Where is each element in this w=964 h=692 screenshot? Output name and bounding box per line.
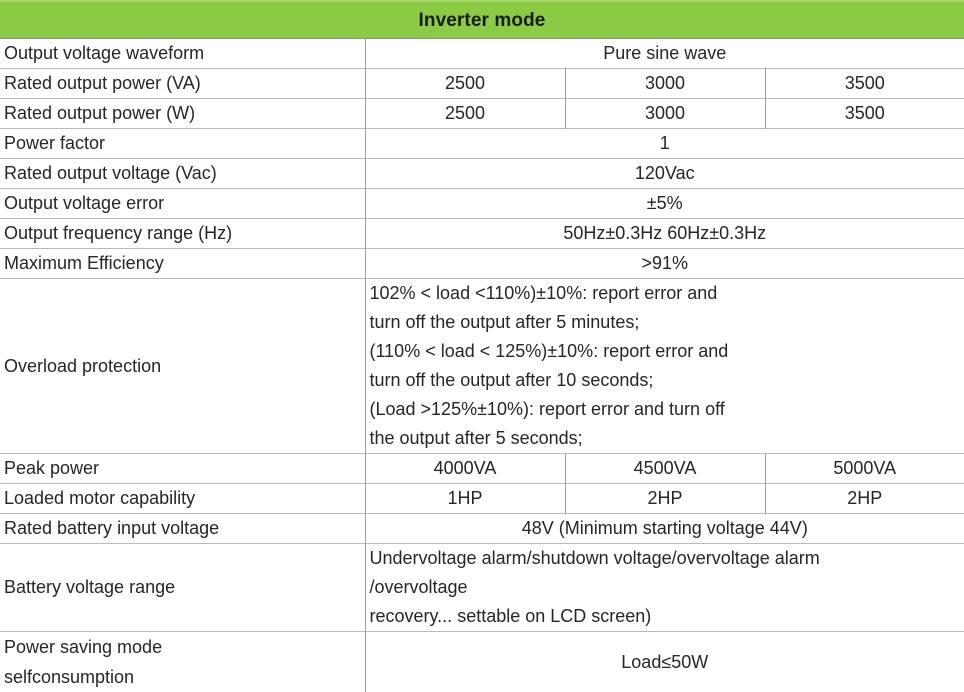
row-value-col3: 2HP <box>765 484 964 514</box>
row-value-col3: 5000VA <box>765 454 964 484</box>
row-value-col2: 4500VA <box>565 454 765 484</box>
table-row: Rated output power (W) 2500 3000 3500 <box>0 99 964 129</box>
row-label: Rated output power (W) <box>0 99 365 129</box>
row-label-text: Power saving mode selfconsumption <box>4 632 361 692</box>
table-row: Output voltage error ±5% <box>0 189 964 219</box>
table-header-banner: Inverter mode <box>0 0 964 38</box>
row-value: Pure sine wave <box>365 39 964 69</box>
row-value-col1: 2500 <box>365 69 565 99</box>
row-value: 48V (Minimum starting voltage 44V) <box>365 514 964 544</box>
row-value-col2: 3000 <box>565 99 765 129</box>
overload-protection-text: 102% < load <110%)±10%: report error and… <box>370 279 961 453</box>
table-row: Output voltage waveform Pure sine wave <box>0 39 964 69</box>
table-row: Rated output power (VA) 2500 3000 3500 <box>0 69 964 99</box>
specification-table: Output voltage waveform Pure sine wave R… <box>0 38 964 692</box>
row-value-col1: 1HP <box>365 484 565 514</box>
inverter-mode-spec-sheet: Inverter mode Output voltage waveform Pu… <box>0 0 964 679</box>
row-value: 50Hz±0.3Hz 60Hz±0.3Hz <box>365 219 964 249</box>
row-value-col2: 2HP <box>565 484 765 514</box>
row-value: 120Vac <box>365 159 964 189</box>
row-label: Rated battery input voltage <box>0 514 365 544</box>
row-value: >91% <box>365 249 964 279</box>
row-value-col1: 2500 <box>365 99 565 129</box>
row-label: Output voltage error <box>0 189 365 219</box>
row-value-multiline: 102% < load <110%)±10%: report error and… <box>365 279 964 454</box>
row-label: Rated output power (VA) <box>0 69 365 99</box>
row-value: 1 <box>365 129 964 159</box>
row-label: Maximum Efficiency <box>0 249 365 279</box>
row-value: ±5% <box>365 189 964 219</box>
table-row-overload-protection: Overload protection 102% < load <110%)±1… <box>0 279 964 454</box>
table-row: Power factor 1 <box>0 129 964 159</box>
table-row: Output frequency range (Hz) 50Hz±0.3Hz 6… <box>0 219 964 249</box>
row-label: Power factor <box>0 129 365 159</box>
row-label: Rated output voltage (Vac) <box>0 159 365 189</box>
row-label: Overload protection <box>0 279 365 454</box>
table-row: Peak power 4000VA 4500VA 5000VA <box>0 454 964 484</box>
row-label: Output frequency range (Hz) <box>0 219 365 249</box>
table-row: Rated output voltage (Vac) 120Vac <box>0 159 964 189</box>
row-label: Power saving mode selfconsumption <box>0 632 365 692</box>
table-row-power-saving: Power saving mode selfconsumption Load≤5… <box>0 632 964 692</box>
table-row: Rated battery input voltage 48V (Minimum… <box>0 514 964 544</box>
row-value-multiline: Undervoltage alarm/shutdown voltage/over… <box>365 544 964 632</box>
row-value-col1: 4000VA <box>365 454 565 484</box>
row-value-col2: 3000 <box>565 69 765 99</box>
table-row: Maximum Efficiency >91% <box>0 249 964 279</box>
row-label: Output voltage waveform <box>0 39 365 69</box>
row-label: Battery voltage range <box>0 544 365 632</box>
table-row: Loaded motor capability 1HP 2HP 2HP <box>0 484 964 514</box>
page-title: Inverter mode <box>419 11 546 30</box>
battery-voltage-range-text: Undervoltage alarm/shutdown voltage/over… <box>370 544 961 631</box>
row-value-col3: 3500 <box>765 99 964 129</box>
table-row-battery-voltage-range: Battery voltage range Undervoltage alarm… <box>0 544 964 632</box>
row-label: Peak power <box>0 454 365 484</box>
row-value-col3: 3500 <box>765 69 964 99</box>
row-value: Load≤50W <box>365 632 964 692</box>
row-label: Loaded motor capability <box>0 484 365 514</box>
